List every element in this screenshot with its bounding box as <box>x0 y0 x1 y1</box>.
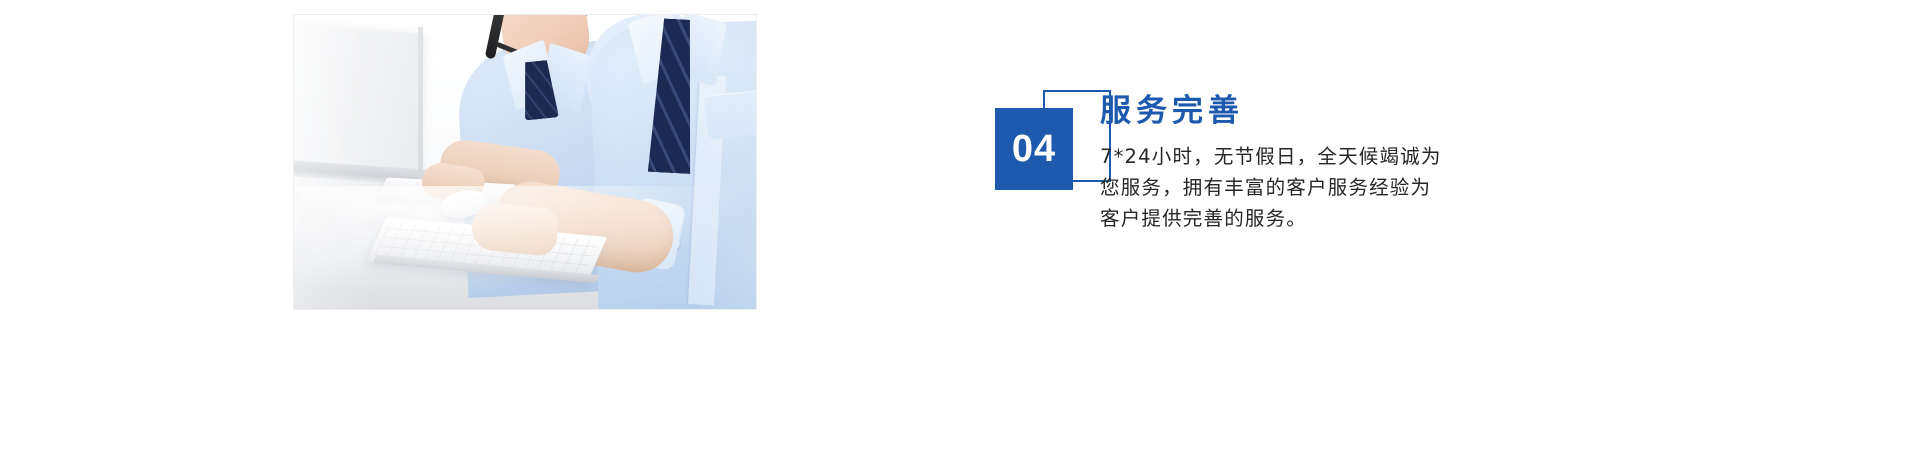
section-description: 7*24小时，无节假日，全天候竭诚为 您服务，拥有丰富的客户服务经验为 客户提供… <box>1100 141 1500 234</box>
section-text: 服务完善 7*24小时，无节假日，全天候竭诚为 您服务，拥有丰富的客户服务经验为… <box>1100 92 1520 234</box>
badge-group: 04 <box>995 90 1115 200</box>
customer-service-photo <box>293 14 757 310</box>
agent-front-pocket <box>704 90 756 139</box>
badge-number: 04 <box>1012 130 1056 168</box>
badge-solid-square: 04 <box>995 108 1073 190</box>
section-number-badge: 04 <box>995 90 1115 200</box>
promo-section: 04 服务完善 7*24小时，无节假日，全天候竭诚为 您服务，拥有丰富的客户服务… <box>0 0 1920 452</box>
photo-canvas <box>294 15 756 309</box>
section-title: 服务完善 <box>1100 92 1520 131</box>
